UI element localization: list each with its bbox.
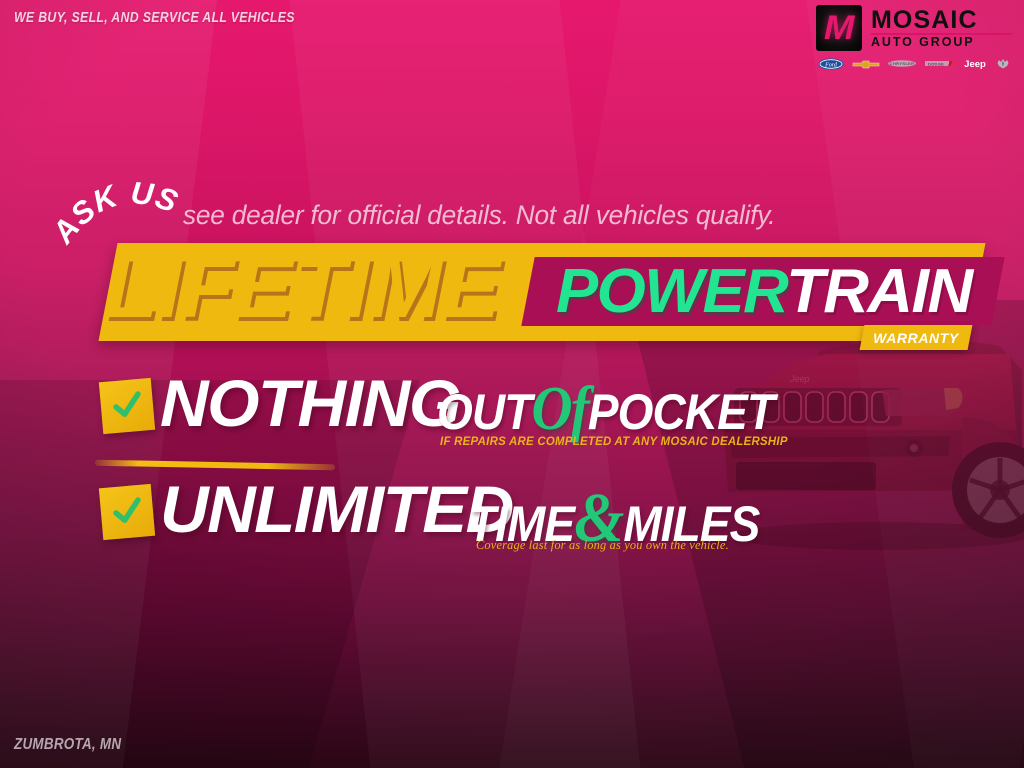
svg-text:DODGE: DODGE	[928, 61, 944, 66]
ask-us-text: ASK US!	[45, 158, 184, 250]
feature-tail-text: OUTOfPOCKET	[437, 378, 774, 440]
feature-tail-post: POCKET	[588, 384, 774, 440]
logo-name: MOSAIC	[871, 8, 1012, 32]
warranty-tab: WARRANTY	[860, 325, 973, 350]
disclaimer-text: see dealer for official details. Not all…	[183, 200, 775, 231]
yellow-divider-line	[95, 460, 335, 471]
mosaic-m-mark-icon: M	[816, 5, 862, 51]
jeep-logo-icon: Jeep	[962, 57, 988, 70]
power-word: POWER	[556, 257, 786, 326]
svg-text:CHRYSLER: CHRYSLER	[890, 61, 915, 66]
checkmark-icon	[99, 484, 155, 540]
powertrain-headline: POWERTRAIN	[556, 261, 972, 323]
svg-text:Jeep: Jeep	[965, 59, 987, 69]
logo-subtitle: AUTO GROUP	[871, 36, 1012, 49]
dealer-location-text: ZUMBROTA, MN	[14, 736, 121, 754]
lifetime-headline: LIFETIME	[104, 245, 499, 331]
feature-main-text: NOTHING	[160, 370, 460, 436]
svg-text:Ford: Ford	[824, 62, 838, 68]
ford-logo-icon: Ford	[818, 57, 844, 70]
headline-band: LIFETIME POWERTRAIN WARRANTY	[0, 243, 1024, 358]
feature-note-text: IF REPAIRS ARE COMPLETED AT ANY MOSAIC D…	[440, 434, 788, 448]
warranty-label: WARRANTY	[862, 325, 970, 350]
logo-wordmark: MOSAIC AUTO GROUP	[871, 8, 1012, 49]
train-word: TRAIN	[786, 257, 972, 326]
ram-logo-icon	[996, 57, 1010, 70]
dodge-logo-icon: DODGE	[925, 57, 955, 70]
chrysler-logo-icon: CHRYSLER	[887, 57, 917, 70]
logo-main: M MOSAIC AUTO GROUP	[816, 5, 1012, 51]
feature-tail-script: Of	[531, 375, 588, 443]
advertisement-canvas: Jeep WE BUY	[0, 0, 1024, 768]
chevrolet-logo-icon	[852, 57, 880, 70]
feature-main-text: UNLIMITED	[160, 476, 513, 542]
brand-logo-row: Ford CHRYSLER DODGE Jeep	[816, 56, 1012, 71]
feature-note-text: Coverage last for as long as you own the…	[476, 537, 729, 553]
top-banner-text: WE BUY, SELL, AND SERVICE ALL VEHICLES	[14, 9, 295, 26]
checkmark-icon	[99, 378, 155, 434]
mosaic-auto-group-logo[interactable]: M MOSAIC AUTO GROUP Ford CHRYSLER DODGE	[816, 5, 1012, 71]
feature-tail-pre: OUT	[437, 384, 531, 440]
logo-mark-letter: M	[824, 11, 855, 45]
